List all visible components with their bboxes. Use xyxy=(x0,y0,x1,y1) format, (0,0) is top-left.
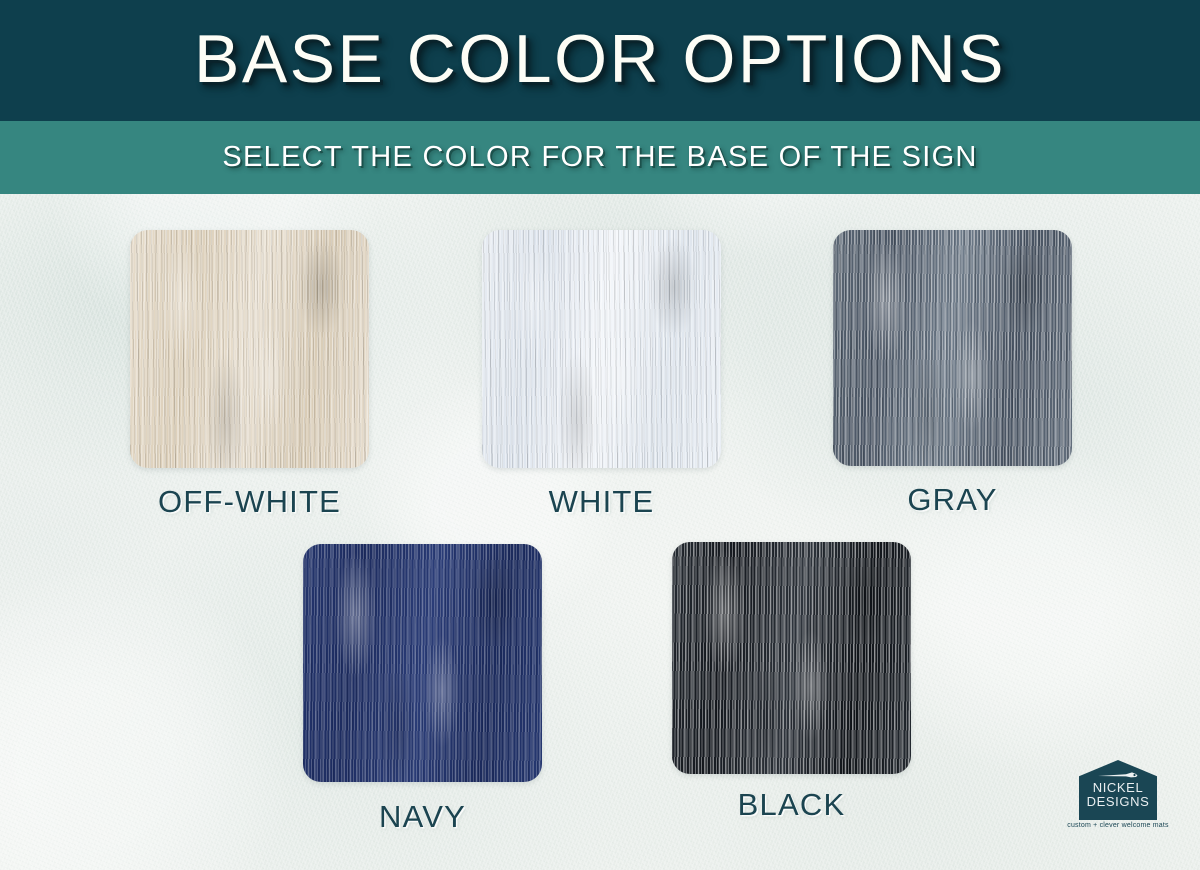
swatch-label-gray: GRAY xyxy=(833,482,1072,518)
swatch-label-navy: NAVY xyxy=(303,799,542,835)
woodgrain-blotch xyxy=(672,542,911,774)
swatch-label-off-white: OFF-WHITE xyxy=(130,484,369,520)
logo-wordmark: NICKEL DESIGNS xyxy=(1079,781,1157,809)
key-icon xyxy=(1096,771,1140,780)
woodgrain-blotch xyxy=(303,544,542,782)
brand-logo[interactable]: NICKEL DESIGNS custom + clever welcome m… xyxy=(1062,760,1174,838)
swatch-grid: OFF-WHITE WHITE GRAY NAVY xyxy=(0,0,1200,870)
logo-tagline: custom + clever welcome mats xyxy=(1062,822,1174,829)
woodgrain-blotch xyxy=(482,230,721,468)
swatch-white[interactable] xyxy=(482,230,721,468)
swatch-gray[interactable] xyxy=(833,230,1072,466)
woodgrain-blotch xyxy=(130,230,369,468)
swatch-label-black: BLACK xyxy=(672,787,911,823)
woodgrain-blotch xyxy=(833,230,1072,466)
base-color-options-page: BASE COLOR OPTIONS SELECT THE COLOR FOR … xyxy=(0,0,1200,870)
swatch-black[interactable] xyxy=(672,542,911,774)
swatch-option-gray[interactable]: GRAY xyxy=(833,230,1072,466)
swatch-navy[interactable] xyxy=(303,544,542,782)
swatch-label-white: WHITE xyxy=(482,484,721,520)
logo-mark: NICKEL DESIGNS xyxy=(1079,760,1157,820)
swatch-option-white[interactable]: WHITE xyxy=(482,230,721,468)
logo-name-line1: NICKEL xyxy=(1079,781,1157,795)
logo-name-line2: DESIGNS xyxy=(1079,795,1157,809)
swatch-option-black[interactable]: BLACK xyxy=(672,542,911,774)
swatch-option-off-white[interactable]: OFF-WHITE xyxy=(130,230,369,468)
swatch-option-navy[interactable]: NAVY xyxy=(303,544,542,782)
swatch-off-white[interactable] xyxy=(130,230,369,468)
